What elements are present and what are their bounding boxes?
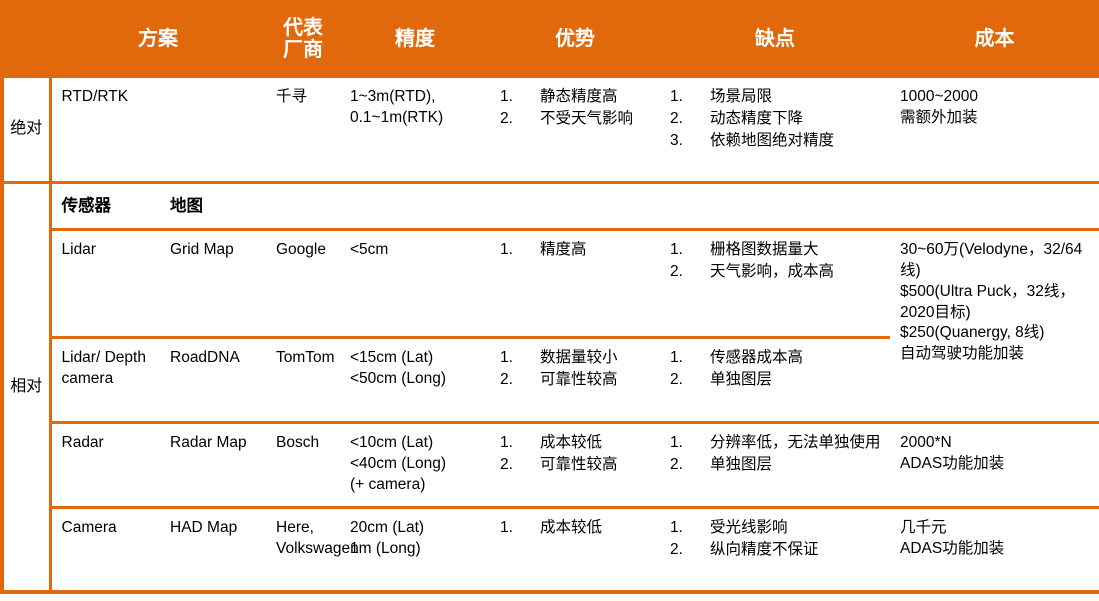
list-item: 单独图层 [670, 455, 882, 476]
subheader-precision-blank [340, 182, 490, 229]
cell-advantage: 精度高 [490, 229, 660, 337]
header-cell-vendor-line1: 代表 [283, 17, 323, 39]
list-item: 动态精度下降 [670, 109, 882, 130]
disadvantage-list: 场景局限 动态精度下降 依赖地图绝对精度 [670, 87, 882, 152]
precision-line: <50cm (Long) [350, 369, 482, 390]
precision-line: 20cm (Lat) [350, 518, 482, 539]
header-cell-vendor: 代表 厂商 [266, 0, 340, 78]
list-item: 场景局限 [670, 87, 882, 108]
list-item: 栅格图数据量大 [670, 240, 882, 261]
list-item: 传感器成本高 [670, 348, 882, 369]
advantage-list: 成本较低 [500, 518, 652, 539]
cell-map: HAD Map [160, 507, 266, 592]
precision-line: (+ camera) [350, 475, 482, 496]
cell-cost: 几千元 ADAS功能加装 [890, 507, 1099, 592]
cost-line: 1000~2000 [900, 87, 1091, 108]
header-cell-cost: 成本 [890, 0, 1099, 78]
subheader-sensor: 传感器 [50, 182, 160, 229]
cell-sensor: Radar [50, 422, 160, 507]
cost-line: 几千元 [900, 518, 1091, 539]
cost-line: $250(Quanergy, 8线) [900, 323, 1091, 344]
cell-advantage: 成本较低 [490, 507, 660, 592]
list-item: 单独图层 [670, 370, 882, 391]
header-cell-precision: 精度 [340, 0, 490, 78]
precision-line: 1~3m(RTD), [350, 87, 482, 108]
subheader-map: 地图 [160, 182, 266, 229]
list-item: 数据量较小 [500, 348, 652, 369]
cell-vendor: Google [266, 229, 340, 337]
list-item: 可靠性较高 [500, 370, 652, 391]
cell-disadvantage: 分辨率低，无法单独使用 单独图层 [660, 422, 890, 507]
list-item: 不受天气影响 [500, 109, 652, 130]
cost-line: ADAS功能加装 [900, 539, 1091, 560]
cell-scheme: RTD/RTK [50, 78, 266, 182]
disadvantage-list: 分辨率低，无法单独使用 单独图层 [670, 433, 882, 476]
table-row: Lidar Grid Map Google <5cm 精度高 栅格图数据量大 [2, 229, 1099, 337]
cell-vendor: Here, Volkswagen [266, 507, 340, 592]
list-item: 受光线影响 [670, 518, 882, 539]
table-header: 方案 代表 厂商 精度 优势 缺点 成本 [2, 0, 1099, 78]
subheader-advantage-blank [490, 182, 660, 229]
list-item: 可靠性较高 [500, 455, 652, 476]
table-row: Radar Radar Map Bosch <10cm (Lat) <40cm … [2, 422, 1099, 507]
cost-line: ADAS功能加装 [900, 454, 1091, 475]
disadvantage-list: 栅格图数据量大 天气影响，成本高 [670, 240, 882, 283]
list-item: 分辨率低，无法单独使用 [670, 433, 882, 454]
header-cell-advantage: 优势 [490, 0, 660, 78]
cell-advantage: 数据量较小 可靠性较高 [490, 337, 660, 422]
precision-line: 0.1~1m(RTK) [350, 108, 482, 129]
precision-line: 1m (Long) [350, 539, 482, 560]
cell-disadvantage: 栅格图数据量大 天气影响，成本高 [660, 229, 890, 337]
cost-line: 自动驾驶功能加装 [900, 344, 1091, 365]
list-item: 精度高 [500, 240, 652, 261]
table-row: 绝对 RTD/RTK 千寻 1~3m(RTD), 0.1~1m(RTK) 静态精… [2, 78, 1099, 182]
cell-disadvantage: 场景局限 动态精度下降 依赖地图绝对精度 [660, 78, 890, 182]
comparison-table-container: 方案 代表 厂商 精度 优势 缺点 成本 绝对 RTD/RTK 千寻 1~3m(… [0, 0, 1099, 601]
advantage-list: 数据量较小 可靠性较高 [500, 348, 652, 391]
cell-sensor: Lidar [50, 229, 160, 337]
cell-advantage: 静态精度高 不受天气影响 [490, 78, 660, 182]
precision-line: <10cm (Lat) [350, 433, 482, 454]
localization-comparison-table: 方案 代表 厂商 精度 优势 缺点 成本 绝对 RTD/RTK 千寻 1~3m(… [0, 0, 1099, 594]
advantage-list: 成本较低 可靠性较高 [500, 433, 652, 476]
cell-vendor: TomTom [266, 337, 340, 422]
subheader-disadvantage-blank [660, 182, 890, 229]
advantage-list: 静态精度高 不受天气影响 [500, 87, 652, 130]
cell-map: RoadDNA [160, 337, 266, 422]
disadvantage-list: 受光线影响 纵向精度不保证 [670, 518, 882, 561]
cell-cost: 2000*N ADAS功能加装 [890, 422, 1099, 507]
subheader-cost-blank [890, 182, 1099, 229]
cell-sensor: Lidar/ Depth camera [50, 337, 160, 422]
cell-precision: 1~3m(RTD), 0.1~1m(RTK) [340, 78, 490, 182]
table-row: Camera HAD Map Here, Volkswagen 20cm (La… [2, 507, 1099, 592]
list-item: 成本较低 [500, 518, 652, 539]
cell-advantage: 成本较低 可靠性较高 [490, 422, 660, 507]
list-item: 天气影响，成本高 [670, 262, 882, 283]
cell-sensor: Camera [50, 507, 160, 592]
cost-line: $500(Ultra Puck，32线，2020目标) [900, 282, 1091, 324]
header-cell-disadvantage: 缺点 [660, 0, 890, 78]
cell-cost: 1000~2000 需额外加装 [890, 78, 1099, 182]
cell-precision: 20cm (Lat) 1m (Long) [340, 507, 490, 592]
precision-line: <5cm [350, 240, 482, 261]
cell-precision: <5cm [340, 229, 490, 337]
cell-precision: <15cm (Lat) <50cm (Long) [340, 337, 490, 422]
cell-disadvantage: 传感器成本高 单独图层 [660, 337, 890, 422]
cell-map: Radar Map [160, 422, 266, 507]
list-item: 依赖地图绝对精度 [670, 131, 882, 152]
cost-line: 30~60万(Velodyne，32/64线) [900, 240, 1091, 282]
cell-precision: <10cm (Lat) <40cm (Long) (+ camera) [340, 422, 490, 507]
cell-map: Grid Map [160, 229, 266, 337]
group-label-absolute: 绝对 [2, 78, 50, 182]
cell-cost: 30~60万(Velodyne，32/64线) $500(Ultra Puck，… [890, 229, 1099, 422]
cell-vendor: Bosch [266, 422, 340, 507]
list-item: 静态精度高 [500, 87, 652, 108]
precision-line: <40cm (Long) [350, 454, 482, 475]
header-row: 方案 代表 厂商 精度 优势 缺点 成本 [2, 0, 1099, 78]
table-body: 绝对 RTD/RTK 千寻 1~3m(RTD), 0.1~1m(RTK) 静态精… [2, 78, 1099, 592]
precision-line: <15cm (Lat) [350, 348, 482, 369]
cell-disadvantage: 受光线影响 纵向精度不保证 [660, 507, 890, 592]
subheader-row: 相对 传感器 地图 [2, 182, 1099, 229]
disadvantage-list: 传感器成本高 单独图层 [670, 348, 882, 391]
subheader-vendor-blank [266, 182, 340, 229]
group-label-relative: 相对 [2, 182, 50, 592]
list-item: 纵向精度不保证 [670, 540, 882, 561]
cell-vendor: 千寻 [266, 78, 340, 182]
cost-line: 需额外加装 [900, 108, 1091, 129]
list-item: 成本较低 [500, 433, 652, 454]
header-cell-vendor-line2: 厂商 [283, 39, 323, 61]
header-cell-scheme: 方案 [50, 0, 266, 78]
header-cell-group-blank [2, 0, 50, 78]
advantage-list: 精度高 [500, 240, 652, 261]
cost-line: 2000*N [900, 433, 1091, 454]
